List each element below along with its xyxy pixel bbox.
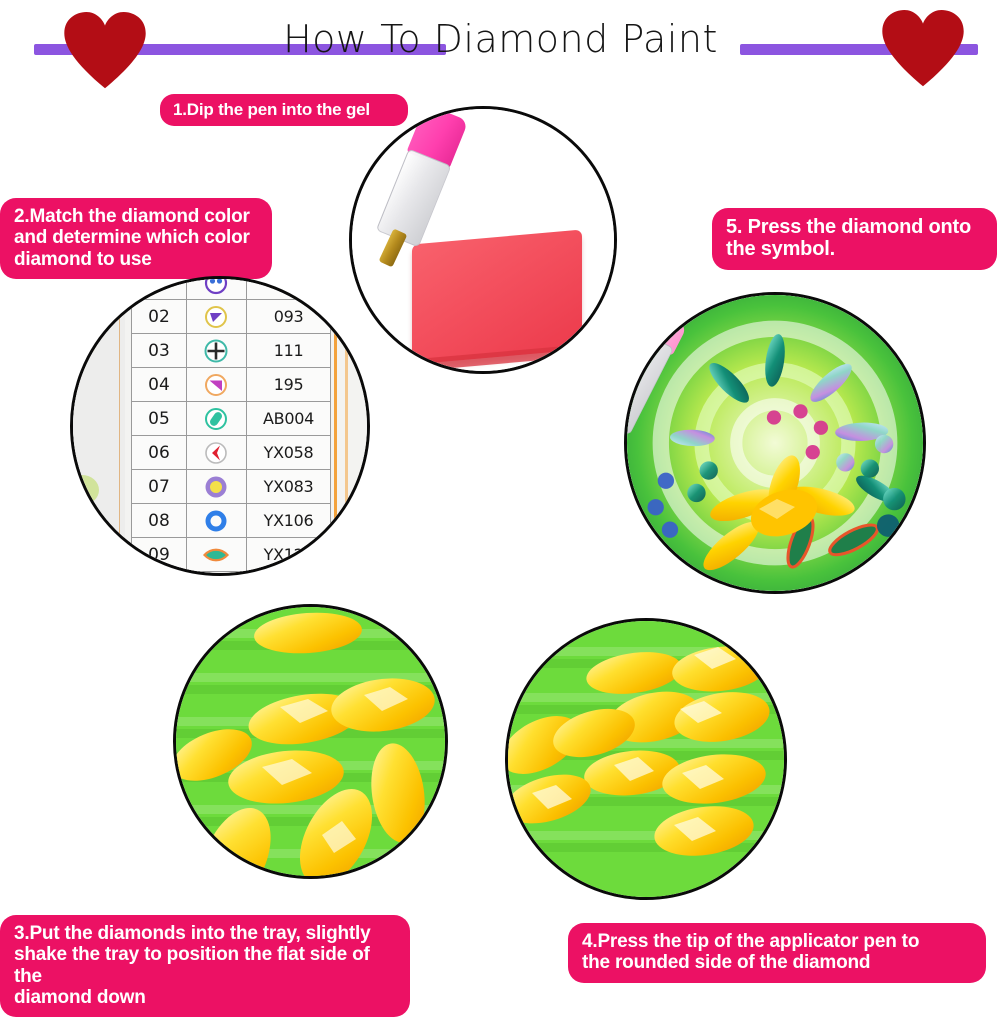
table-row: 06 YX058 — [132, 436, 331, 470]
chart-number: 01 — [132, 276, 187, 300]
table-row: 09 YX125 — [132, 538, 331, 572]
chart-symbol-triangle-flag-icon — [186, 300, 246, 334]
step-5-label: 5. Press the diamond onto the symbol. — [712, 208, 997, 270]
color-chart-body: 01 028 02 — [132, 276, 331, 572]
infographic-canvas: How To Diamond Paint 1.Dip the pen into … — [0, 0, 1001, 1001]
step-2-label: 2.Match the diamond color and determine … — [0, 198, 272, 279]
page-title: How To Diamond Paint — [0, 17, 1001, 61]
color-chart-table: 01 028 02 — [131, 276, 331, 572]
chart-number: 04 — [132, 368, 187, 402]
chart-number: 05 — [132, 402, 187, 436]
chart-code: AB004 — [247, 402, 331, 436]
table-row: 03 111 — [132, 334, 331, 368]
chart-code: YX058 — [247, 436, 331, 470]
chart-symbol-filled-donut-icon — [186, 470, 246, 504]
chart-number: 02 — [132, 300, 187, 334]
table-row: 04 195 — [132, 368, 331, 402]
chart-symbol-quarter-wedge-icon — [186, 368, 246, 402]
chart-number: 09 — [132, 538, 187, 572]
chart-number: 06 — [132, 436, 187, 470]
chart-code: 195 — [247, 368, 331, 402]
table-row: 01 028 — [132, 276, 331, 300]
step-1-photo — [349, 106, 617, 374]
chart-number: 03 — [132, 334, 187, 368]
chart-code: YX125 — [247, 538, 331, 572]
chart-symbol-double-dot-circle-icon — [186, 276, 246, 300]
step-3-label: 3.Put the diamonds into the tray, slight… — [0, 915, 410, 1017]
chart-code: 093 — [247, 300, 331, 334]
chart-symbol-plus-cross-icon — [186, 334, 246, 368]
step-5-photo — [624, 292, 926, 594]
step-3-photo — [173, 604, 448, 879]
table-row: 05 AB004 — [132, 402, 331, 436]
table-row: 08 YX106 — [132, 504, 331, 538]
gem-group — [176, 609, 438, 879]
step-2-photo: 01 028 02 — [70, 276, 370, 576]
table-row: 07 YX083 — [132, 470, 331, 504]
step-4-label: 4.Press the tip of the applicator pen to… — [568, 923, 986, 983]
chart-symbol-slanted-capsule-icon — [186, 402, 246, 436]
table-row: 02 093 — [132, 300, 331, 334]
chart-number: 07 — [132, 470, 187, 504]
color-chart-sheet: 01 028 02 — [73, 279, 367, 573]
chart-code: 111 — [247, 334, 331, 368]
chart-number: 08 — [132, 504, 187, 538]
chart-code: 028 — [247, 276, 331, 300]
gel-square — [412, 230, 582, 365]
chart-symbol-leaf-marquise-icon — [186, 538, 246, 572]
chart-symbol-left-chevron-icon — [186, 436, 246, 470]
diamond-gem — [747, 487, 821, 539]
chart-code: YX106 — [247, 504, 331, 538]
chart-code: YX083 — [247, 470, 331, 504]
chart-symbol-open-ring-icon — [186, 504, 246, 538]
gem-group — [508, 642, 773, 862]
step-4-photo — [505, 618, 787, 900]
